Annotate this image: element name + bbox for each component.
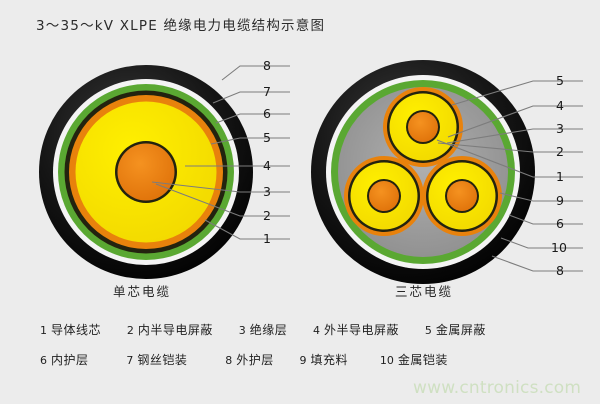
legend-text-1: 导体线芯	[51, 323, 101, 337]
label-three-9: 9	[556, 193, 564, 208]
core-left-conductor	[369, 181, 399, 211]
label-three-8: 8	[556, 263, 564, 278]
cable-diagram-canvas	[0, 0, 600, 404]
caption-three-core: 三芯电缆	[372, 281, 476, 300]
site-watermark: www.cntronics.com	[413, 378, 581, 398]
legend-num-5: 5	[425, 324, 432, 337]
legend-item-6: 6内护层	[40, 351, 89, 368]
label-single-3: 3	[263, 184, 271, 199]
cable-structure-figure: 3～35～kV XLPE 绝缘电力电缆结构示意图	[0, 0, 600, 404]
core-top-conductor	[408, 112, 438, 142]
label-three-1: 1	[556, 169, 564, 184]
three-core-left	[344, 156, 424, 236]
legend-item-3: 3绝缘层	[239, 321, 288, 338]
label-three-4: 4	[556, 98, 564, 113]
label-single-8: 8	[263, 58, 271, 73]
label-single-1: 1	[263, 231, 271, 246]
legend-item-8: 8外护层	[225, 351, 274, 368]
legend-item-4: 4外半导电屏蔽	[313, 321, 399, 338]
legend-text-4: 外半导电屏蔽	[324, 323, 399, 337]
legend-text-10: 金属铠装	[398, 353, 448, 367]
legend-item-10: 10金属铠装	[380, 351, 448, 368]
legend-num-10: 10	[380, 354, 394, 367]
caption-single-core: 单芯电缆	[90, 281, 194, 300]
three-core-cable	[311, 60, 535, 284]
legend-text-6: 内护层	[51, 353, 89, 367]
legend-item-7: 7钢丝铠装	[126, 351, 187, 368]
legend-row-2: 6内护层 7钢丝铠装 8外护层 9填充料 10金属铠装	[40, 351, 448, 368]
core-right-conductor	[447, 181, 477, 211]
label-three-2: 2	[556, 144, 564, 159]
legend-num-8: 8	[225, 354, 232, 367]
leader-line-r10	[501, 238, 583, 248]
label-three-5: 5	[556, 73, 564, 88]
label-single-4: 4	[263, 158, 271, 173]
label-single-6: 6	[263, 106, 271, 121]
leader-line-8	[222, 66, 290, 80]
legend-item-2: 2内半导电屏蔽	[127, 321, 213, 338]
legend-text-5: 金属屏蔽	[436, 323, 486, 337]
legend-text-3: 绝缘层	[250, 323, 288, 337]
label-three-6: 6	[556, 216, 564, 231]
label-single-5: 5	[263, 130, 271, 145]
legend-text-2: 内半导电屏蔽	[138, 323, 213, 337]
legend-item-1: 1导体线芯	[40, 321, 101, 338]
legend-num-2: 2	[127, 324, 134, 337]
legend-item-9: 9填充料	[300, 351, 349, 368]
legend-text-9: 填充料	[311, 353, 349, 367]
legend-text-8: 外护层	[236, 353, 274, 367]
legend-num-3: 3	[239, 324, 246, 337]
single-layer-conductor	[118, 144, 175, 201]
legend-text-7: 钢丝铠装	[137, 353, 187, 367]
figure-title: 3～35～kV XLPE 绝缘电力电缆结构示意图	[36, 14, 325, 34]
label-three-3: 3	[556, 121, 564, 136]
three-core-right	[422, 156, 502, 236]
single-core-cable	[39, 65, 253, 279]
leader-line-r8	[492, 256, 583, 271]
label-single-2: 2	[263, 208, 271, 223]
legend-num-9: 9	[300, 354, 307, 367]
label-three-10: 10	[551, 240, 567, 255]
legend-num-4: 4	[313, 324, 320, 337]
legend-num-6: 6	[40, 354, 47, 367]
legend-item-5: 5金属屏蔽	[425, 321, 486, 338]
legend-row-1: 1导体线芯 2内半导电屏蔽 3绝缘层 4外半导电屏蔽 5金属屏蔽	[40, 321, 486, 338]
legend-num-7: 7	[126, 354, 133, 367]
label-single-7: 7	[263, 84, 271, 99]
legend-num-1: 1	[40, 324, 47, 337]
three-core-top	[383, 87, 463, 167]
